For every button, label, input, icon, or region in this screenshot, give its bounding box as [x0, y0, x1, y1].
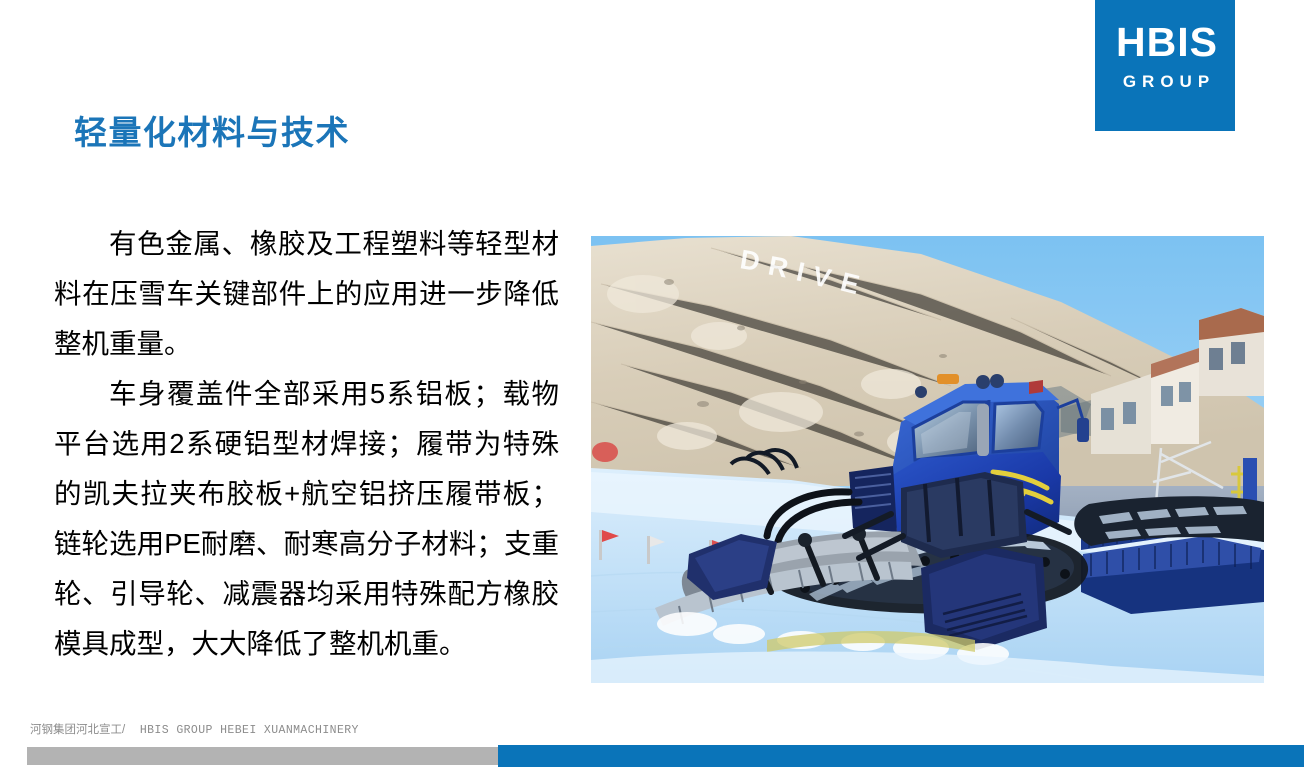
footer-caption: 河钢集团河北宣工/ HBIS GROUP HEBEI XUANMACHINERY	[30, 721, 359, 737]
body-paragraph-2: 车身覆盖件全部采用5系铝板；载物平台选用2系硬铝型材焊接；履带为特殊的凯夫拉夹布…	[54, 369, 559, 669]
hbis-group-logo: HBIS GROUP	[1095, 0, 1235, 131]
footer-bar-gray	[27, 747, 498, 765]
snow-groomer-photo: D R I V E	[591, 236, 1264, 683]
body-paragraph-1: 有色金属、橡胶及工程塑料等轻型材料在压雪车关键部件上的应用进一步降低整机重量。	[54, 219, 559, 369]
logo-hbis-text: HBIS	[1095, 22, 1235, 63]
footer-caption-en: HBIS GROUP HEBEI XUANMACHINERY	[140, 724, 359, 737]
presentation-slide: HBIS GROUP 轻量化材料与技术 有色金属、橡胶及工程塑料等轻型材料在压雪…	[0, 0, 1304, 776]
body-text-column: 有色金属、橡胶及工程塑料等轻型材料在压雪车关键部件上的应用进一步降低整机重量。 …	[54, 219, 559, 669]
footer-caption-cn: 河钢集团河北宣工/	[30, 724, 125, 736]
photo-illustration: D R I V E	[591, 236, 1264, 683]
logo-group-text: GROUP	[1095, 73, 1235, 90]
footer-bar-blue	[498, 745, 1304, 767]
page-title: 轻量化材料与技术	[74, 113, 350, 153]
